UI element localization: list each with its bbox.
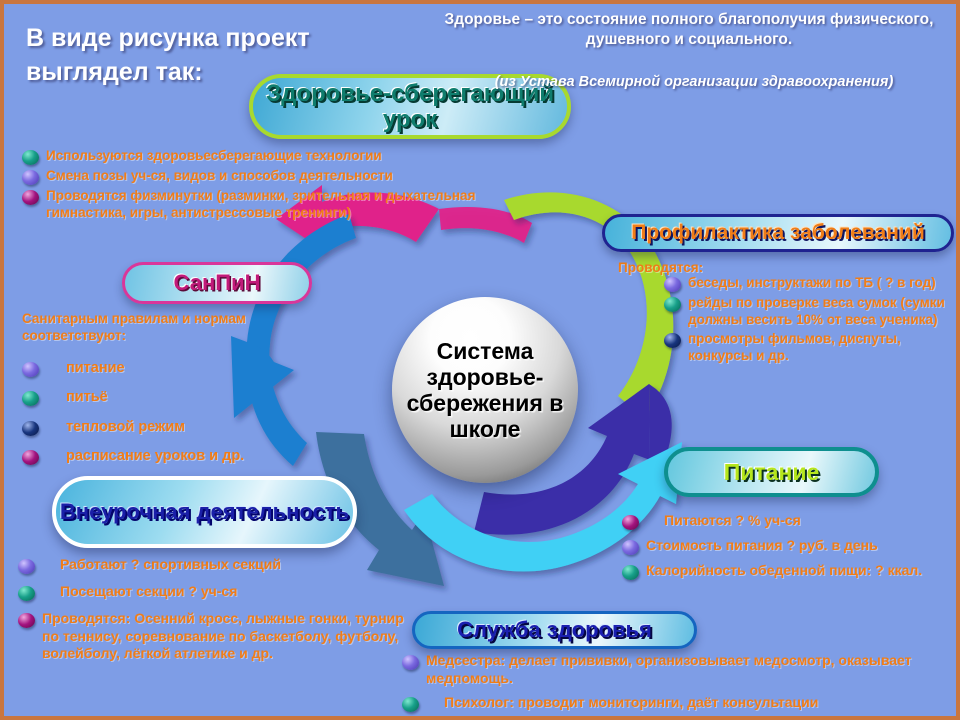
list-item-label: Используются здоровьесберегающие техноло…: [46, 147, 382, 164]
list-item-label: Работают ? спортивных секций: [42, 556, 281, 574]
list-item: тепловой режим: [22, 418, 322, 436]
list-lesson: Используются здоровьесберегающие техноло…: [22, 147, 547, 223]
pill-prophylaxis-label: Профилактика заболеваний: [605, 221, 951, 245]
list-item-label: расписание уроков и др.: [66, 447, 244, 465]
bullet-icon: [18, 586, 35, 601]
list-sanpin: питание питьё тепловой режим расписание …: [22, 359, 322, 476]
bullet-icon: [22, 362, 39, 377]
bullet-icon: [18, 559, 35, 574]
bullet-icon: [22, 150, 39, 165]
list-item-label: Проводятся физминутки (разминки, зритель…: [46, 187, 547, 221]
list-item: беседы, инструктажи по ТБ ( ? в год): [664, 274, 960, 292]
bullet-icon: [22, 450, 39, 465]
page-title: В виде рисунка проект выглядел так:: [26, 22, 416, 90]
who-quote: Здоровье – это состояние полного благопо…: [419, 10, 959, 50]
list-item: просмотры фильмов, диспуты, конкурсы и д…: [664, 330, 960, 364]
pill-nutrition-label: Питание: [668, 459, 875, 486]
list-extracurricular: Работают ? спортивных секций Посещают се…: [18, 556, 408, 672]
list-item: рейды по проверке веса сумок (сумки долж…: [664, 294, 960, 328]
bullet-icon: [22, 190, 39, 205]
list-item: Стоимость питания ? руб. в день: [622, 537, 960, 555]
list-item: питание: [22, 359, 322, 377]
list-item-label: беседы, инструктажи по ТБ ( ? в год): [688, 274, 936, 291]
list-item-label: Медсестра: делает прививки, организовыва…: [426, 652, 960, 687]
pill-extracurricular-label: Внеурочная деятельность: [56, 500, 353, 524]
list-item-label: Проводятся: Осенний кросс, лыжные гонки,…: [42, 610, 408, 663]
list-item-label: Психолог: проводит мониторинги, даёт кон…: [426, 694, 818, 712]
bullet-icon: [622, 515, 639, 530]
slide-canvas: В виде рисунка проект выглядел так: Здор…: [0, 0, 960, 720]
who-quote-source: (из Устава Всемирной организации здравоо…: [459, 72, 929, 93]
list-nutrition: Питаются ? % уч-ся Стоимость питания ? р…: [622, 512, 960, 587]
list-item-label: просмотры фильмов, диспуты, конкурсы и д…: [688, 330, 960, 364]
bullet-icon: [664, 333, 681, 348]
list-item-label: Питаются ? % уч-ся: [646, 512, 801, 530]
list-item: Питаются ? % уч-ся: [622, 512, 960, 530]
list-item-label: Смена позы уч-ся, видов и способов деяте…: [46, 167, 393, 184]
list-item-label: рейды по проверке веса сумок (сумки долж…: [688, 294, 960, 328]
sanpin-intro: Санитарным правилам и нормам соответству…: [22, 310, 342, 344]
list-item: Проводятся физминутки (разминки, зритель…: [22, 187, 547, 221]
list-item: Психолог: проводит мониторинги, даёт кон…: [402, 694, 960, 712]
list-item: Используются здоровьесберегающие техноло…: [22, 147, 547, 165]
list-item: Проводятся: Осенний кросс, лыжные гонки,…: [18, 610, 408, 663]
pill-sanpin-label: СанПиН: [125, 270, 309, 296]
list-item-label: питание: [66, 359, 125, 377]
bullet-icon: [622, 540, 639, 555]
list-item-label: Калорийность обеденной пищи: ? ккал.: [646, 562, 922, 580]
list-item: Смена позы уч-ся, видов и способов деяте…: [22, 167, 547, 185]
pill-health-service[interactable]: Служба здоровья: [412, 611, 697, 649]
list-item: расписание уроков и др.: [22, 447, 322, 465]
bullet-icon: [402, 697, 419, 712]
pill-nutrition[interactable]: Питание: [664, 447, 879, 497]
central-sphere: Система здоровье-сбережения в школе: [392, 297, 578, 483]
bullet-icon: [664, 297, 681, 312]
list-prophylaxis: беседы, инструктажи по ТБ ( ? в год) рей…: [664, 274, 960, 366]
central-sphere-label: Система здоровье-сбережения в школе: [392, 338, 578, 443]
list-item: питьё: [22, 388, 322, 406]
list-item-label: тепловой режим: [66, 418, 185, 436]
list-item-label: питьё: [66, 388, 108, 406]
bullet-icon: [402, 655, 419, 670]
list-item-label: Посещают секции ? уч-ся: [42, 583, 237, 601]
bullet-icon: [22, 391, 39, 406]
bullet-icon: [22, 170, 39, 185]
bullet-icon: [18, 613, 35, 628]
bullet-icon: [22, 421, 39, 436]
pill-sanpin[interactable]: СанПиН: [122, 262, 312, 304]
pill-prophylaxis[interactable]: Профилактика заболеваний: [602, 214, 954, 252]
pill-extracurricular[interactable]: Внеурочная деятельность: [52, 476, 357, 548]
list-item: Медсестра: делает прививки, организовыва…: [402, 652, 960, 687]
pill-health-service-label: Служба здоровья: [415, 617, 694, 643]
list-health-service: Медсестра: делает прививки, организовыва…: [402, 652, 960, 719]
bullet-icon: [664, 277, 681, 292]
list-item: Посещают секции ? уч-ся: [18, 583, 408, 601]
list-item: Калорийность обеденной пищи: ? ккал.: [622, 562, 960, 580]
list-item-label: Стоимость питания ? руб. в день: [646, 537, 878, 555]
list-item: Работают ? спортивных секций: [18, 556, 408, 574]
bullet-icon: [622, 565, 639, 580]
